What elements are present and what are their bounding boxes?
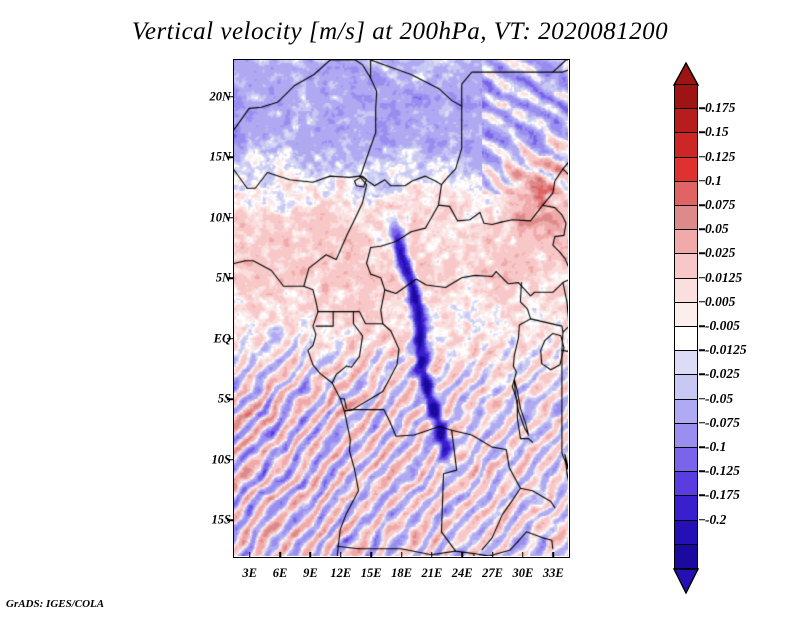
y-axis-tick-mark [227,157,233,159]
colorbar-swatch [674,495,698,520]
colorbar-tick-mark [699,132,705,134]
x-axis-tick-mark [522,552,524,558]
colorbar-swatch [674,350,698,375]
x-axis-tick-mark [553,552,555,558]
colorbar-max-arrow-icon [673,62,699,86]
x-axis-tick-mark [279,552,281,558]
colorbar-tick-mark [699,446,705,448]
x-axis-tick-label: 21E [421,566,442,581]
colorbar-tick-label: 0.075 [705,197,735,213]
colorbar-swatch [674,84,698,109]
colorbar-tick-label: 0.15 [705,124,729,140]
map-plot-area[interactable] [233,59,570,558]
colorbar-tick-label: -0.1 [705,439,726,455]
x-axis-tick-label: 33E [543,566,564,581]
x-axis-tick-label: 24E [452,566,473,581]
colorbar-swatch [674,157,698,182]
x-axis-tick-label: 30E [513,566,534,581]
colorbar-swatch [674,520,698,545]
colorbar-tick-mark [699,519,705,521]
colorbar-tick-mark [699,422,705,424]
y-axis-tick-mark [227,278,233,280]
colorbar-tick-label: -0.125 [705,463,740,479]
colorbar-tick-mark [699,228,705,230]
colorbar-swatch [674,302,698,327]
x-axis-tick-mark [310,552,312,558]
colorbar-tick-mark [699,495,705,497]
x-axis-tick-mark [249,552,251,558]
x-axis-tick-label: 12E [330,566,351,581]
colorbar-swatch [674,423,698,448]
colorbar-swatch [674,447,698,472]
colorbar-swatch [674,205,698,230]
colorbar-tick-mark [699,349,705,351]
x-axis-tick-label: 18E [391,566,412,581]
colorbar-swatch [674,132,698,157]
colorbar-tick-label: 0.125 [705,149,735,165]
x-axis-ticks [233,552,570,560]
vertical-velocity-field [234,60,568,556]
colorbar-swatch [674,181,698,206]
y-axis-tick-mark [227,519,233,521]
colorbar-tick-label: -0.175 [705,487,740,503]
x-axis-tick-label: 15E [361,566,382,581]
x-axis-tick-mark [492,552,494,558]
colorbar-tick-mark [699,156,705,158]
colorbar-tick-label: 0.005 [705,294,735,310]
colorbar-swatch [674,471,698,496]
x-axis-tick-label: 3E [242,566,257,581]
colorbar-tick-mark [699,301,705,303]
y-axis: 20N15N10N5NEQ5S10S15S [185,59,231,558]
y-axis-tick-mark [227,96,233,98]
colorbar-tick-label: -0.0125 [705,342,747,358]
x-axis-tick-mark [370,552,372,558]
colorbar-swatch [674,544,698,569]
colorbar-tick-mark [699,470,705,472]
x-axis-tick-mark [340,552,342,558]
colorbar-tick-label: -0.075 [705,415,740,431]
colorbar-tick-label: -0.2 [705,512,726,528]
colorbar-tick-label: 0.0125 [705,270,742,286]
colorbar-tick-mark [699,325,705,327]
x-axis-tick-label: 27E [482,566,503,581]
colorbar-tick-mark [699,374,705,376]
x-axis-tick-mark [461,552,463,558]
colorbar-tick-mark [699,398,705,400]
y-axis-tick-mark [227,217,233,219]
colorbar-tick-mark [699,277,705,279]
y-axis-ticks [227,59,235,558]
y-axis-tick-mark [227,398,233,400]
colorbar-tick-label: 0.1 [705,173,722,189]
colorbar-tick-mark [699,107,705,109]
y-axis-tick-mark [227,338,233,340]
colorbar-tick-label: 0.175 [705,100,735,116]
colorbar-swatch [674,108,698,133]
colorbar-swatch [674,253,698,278]
colorbar-tick-label: 0.025 [705,245,735,261]
colorbar-swatch [674,374,698,399]
x-axis-tick-mark [431,552,433,558]
x-axis-tick-label: 6E [273,566,288,581]
colorbar-swatch [674,399,698,424]
colorbar-min-arrow-icon [673,568,699,594]
colorbar-swatch [674,278,698,303]
colorbar-tick-mark [699,204,705,206]
colorbar-tick-mark [699,180,705,182]
page-title: Vertical velocity [m/s] at 200hPa, VT: 2… [0,18,800,46]
colorbar-tick-mark [699,253,705,255]
x-axis-tick-mark [401,552,403,558]
y-axis-tick-mark [227,459,233,461]
colorbar-swatch [674,229,698,254]
colorbar-tick-label: -0.025 [705,366,740,382]
x-axis-tick-label: 9E [303,566,318,581]
colorbar-tick-label: 0.05 [705,221,729,237]
colorbar-tick-label: -0.05 [705,391,733,407]
grads-credit: GrADS: IGES/COLA [6,598,104,610]
x-axis: 3E6E9E12E15E18E21E24E27E30E33E [233,566,570,586]
colorbar-swatch [674,326,698,351]
colorbar-tick-label: -0.005 [705,318,740,334]
colorbar[interactable]: 0.1750.150.1250.10.0750.050.0250.01250.0… [674,62,800,562]
